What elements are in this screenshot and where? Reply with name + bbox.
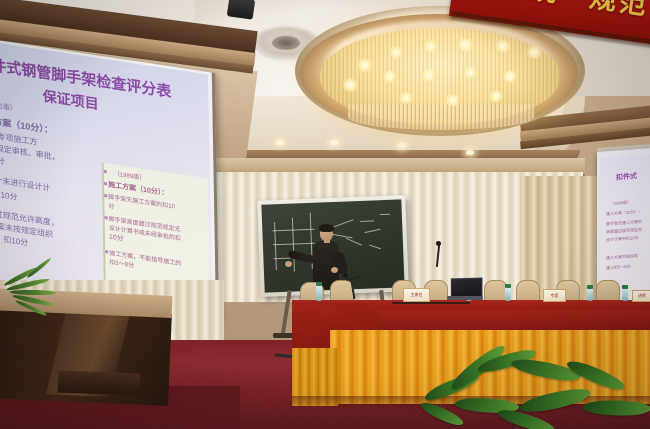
lecturer-hair — [319, 224, 334, 232]
bottle-cap — [316, 282, 322, 286]
chandelier-bulb-icon — [462, 66, 479, 79]
bottle-cap — [622, 285, 628, 289]
cove-downlight-icon — [330, 140, 338, 145]
name-card[interactable]: 专家 — [543, 289, 566, 302]
chalk-line — [365, 229, 381, 233]
chandelier-crystal-skirt — [348, 104, 534, 130]
slide-bullet-icon — [104, 170, 107, 173]
cove-downlight-icon — [398, 143, 406, 148]
chalk-line — [345, 238, 362, 246]
water-bottle[interactable] — [622, 288, 628, 301]
chalk-line — [333, 234, 353, 238]
ceiling-vent-core — [272, 36, 300, 50]
chalk-line — [380, 214, 390, 215]
right-slide-line-4: 设计计算书扣10分 — [606, 235, 638, 243]
slide-bullet-icon — [104, 194, 107, 197]
right-slide-line-3: 高度超过规范规定无 — [606, 227, 642, 236]
slide-right-panel: （1999版） 施工方案（10分）： 脚手架无施工方案的扣10 分 脚手架高度超… — [102, 163, 210, 297]
right-slide-line-1: 施工方案（10分）： — [606, 209, 642, 218]
chandelier-bulb-icon — [488, 90, 504, 102]
conference-hall-photo: 技术统一规范 扣件式钢管脚手架检查评分表 保证项目 （2011版） 施工方案（1… — [0, 0, 650, 429]
right-slide-line-0: （1999版） — [610, 200, 631, 207]
chandelier-bulb-icon — [420, 68, 438, 82]
slide-bullet-icon — [105, 216, 108, 219]
chandelier-bulb-icon — [342, 78, 359, 92]
chandelier-bulb-icon — [502, 70, 518, 83]
right-slide-line-2: 脚手架无施工方案的 — [606, 219, 642, 228]
cove-downlight-icon — [276, 140, 284, 145]
cable — [392, 302, 470, 304]
right-slide-line-6: 施工扣5～8分 — [606, 264, 630, 272]
slide-right-line-6: 10分 — [109, 232, 124, 244]
leaf — [582, 396, 650, 419]
water-bottle[interactable] — [316, 285, 322, 301]
laptop-base — [447, 296, 483, 300]
chandelier-bulb-icon — [456, 38, 475, 52]
cove-downlight-icon — [466, 150, 474, 155]
chandelier-bulb-icon — [494, 40, 511, 53]
microphone-icon — [343, 273, 348, 278]
name-card[interactable]: 讲师 — [632, 290, 650, 302]
projector-icon — [227, 0, 256, 20]
bottle-cap — [587, 285, 593, 289]
bottle-cap — [505, 284, 511, 288]
lecturer-right-hand — [331, 267, 338, 273]
foliage-plant-bottom-right — [415, 352, 650, 429]
water-bottle[interactable] — [505, 287, 511, 301]
speaker-base — [58, 371, 141, 396]
chandelier-bulb-icon — [356, 58, 374, 72]
chandelier-bulb-icon — [526, 46, 542, 59]
chandelier-bulb-icon — [422, 40, 439, 53]
slide-right-line-3: 分 — [108, 201, 114, 211]
chandelier-bulb-icon — [398, 92, 414, 104]
name-card[interactable]: 主席台 — [403, 288, 430, 302]
chalk-line — [360, 220, 374, 222]
slide-right-line-0: （1999版） — [114, 168, 146, 182]
name-card-text: 主席台 — [404, 292, 429, 297]
right-projection-screen[interactable]: 扣件式 （1999版） 施工方案（10分）： 脚手架无施工方案的 高度超过规范规… — [600, 154, 650, 299]
chalk-line — [369, 245, 381, 250]
microphone-icon — [436, 241, 441, 246]
water-bottle[interactable] — [587, 288, 593, 301]
slide-bullet-icon — [105, 250, 108, 253]
slide-left-line-0: （2011版） — [0, 98, 17, 113]
slide-bullet-icon — [104, 182, 107, 185]
leaf — [26, 257, 52, 279]
palm-frond-left — [2, 258, 90, 324]
right-slide-title: 扣件式 — [616, 171, 637, 182]
lecturer-left-hand — [285, 261, 292, 267]
leaf — [518, 387, 592, 414]
chandelier-bulb-icon — [388, 46, 404, 59]
name-card-text: 专家 — [544, 293, 565, 298]
chandelier-bulb-icon — [444, 94, 461, 106]
name-card-text: 讲师 — [633, 293, 650, 298]
right-slide-line-5: 施工方案不能指导 — [606, 253, 638, 261]
chandelier-bulb-icon — [382, 70, 398, 83]
